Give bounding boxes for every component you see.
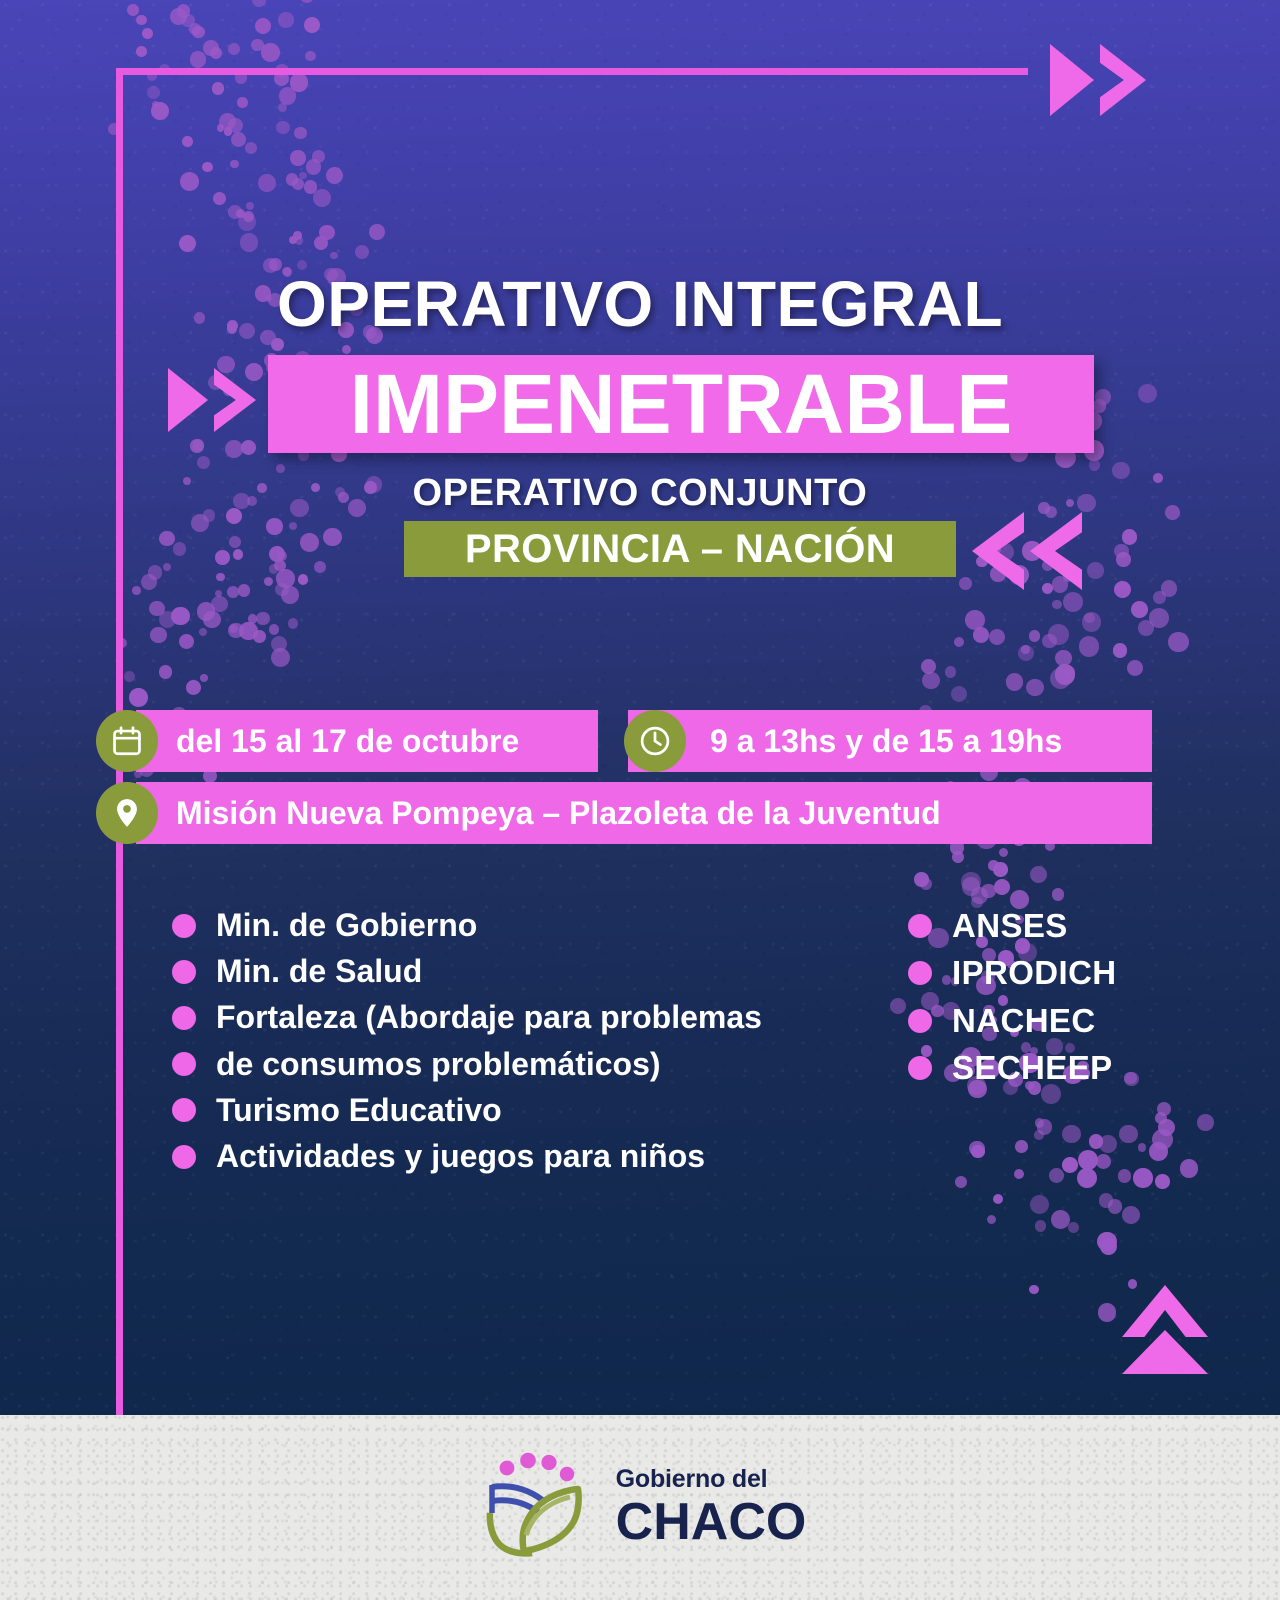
- bullet-dot-icon: [908, 961, 932, 985]
- bullet-dot-icon: [908, 914, 932, 938]
- logo-title: CHACO: [616, 1496, 807, 1548]
- bullet-dot-icon: [908, 1056, 932, 1080]
- list-item: ANSES: [908, 908, 1117, 944]
- list-item-label: IPRODICH: [952, 955, 1117, 991]
- clock-icon: [624, 710, 686, 772]
- list-item: de consumos problemáticos): [172, 1047, 762, 1082]
- triangle-right-icon: [1050, 44, 1094, 116]
- list-item-label: NACHEC: [952, 1003, 1096, 1039]
- bullet-dot-icon: [172, 1052, 196, 1076]
- headline-line2: IMPENETRABLE: [268, 355, 1094, 453]
- logo-subtitle: Gobierno del: [616, 1467, 807, 1492]
- background-texture: [0, 0, 1280, 1415]
- list-item-label: Turismo Educativo: [216, 1093, 502, 1128]
- poster-canvas: OPERATIVO INTEGRAL IMPENETRABLE OPERATIV…: [0, 0, 1280, 1600]
- bullet-dot-icon: [908, 1009, 932, 1033]
- bullet-dot-icon: [172, 914, 196, 938]
- triangle-up-icon: [1122, 1330, 1208, 1374]
- bullet-dot-icon: [172, 960, 196, 984]
- list-item: NACHEC: [908, 1003, 1117, 1039]
- list-item: Fortaleza (Abordaje para problemas: [172, 1000, 762, 1035]
- list-item-label: Min. de Salud: [216, 954, 422, 989]
- list-item-label: Actividades y juegos para niños: [216, 1139, 705, 1174]
- bullet-dot-icon: [172, 1098, 196, 1122]
- list-item: IPRODICH: [908, 955, 1117, 991]
- subhead-line1: OPERATIVO CONJUNTO: [0, 472, 1280, 515]
- date-text: del 15 al 17 de octubre: [176, 723, 519, 760]
- time-bar: 9 a 13hs y de 15 a 19hs: [628, 710, 1152, 772]
- subhead-line2: PROVINCIA – NACIÓN: [404, 521, 956, 577]
- participants-list-right: ANSESIPRODICHNACHECSECHEEP: [908, 908, 1117, 1097]
- time-text: 9 a 13hs y de 15 a 19hs: [710, 723, 1062, 760]
- list-item: Turismo Educativo: [172, 1093, 762, 1128]
- list-item: SECHEEP: [908, 1050, 1117, 1086]
- location-bar: Misión Nueva Pompeya – Plazoleta de la J…: [136, 782, 1152, 844]
- date-bar: del 15 al 17 de octubre: [136, 710, 598, 772]
- bullet-dot-icon: [172, 1006, 196, 1030]
- calendar-icon: [96, 710, 158, 772]
- location-text: Misión Nueva Pompeya – Plazoleta de la J…: [176, 795, 941, 832]
- list-item-label: de consumos problemáticos): [216, 1047, 661, 1082]
- list-item-label: SECHEEP: [952, 1050, 1113, 1086]
- footer: Gobierno del CHACO: [0, 1415, 1280, 1600]
- list-item: Actividades y juegos para niños: [172, 1139, 762, 1174]
- list-item-label: Fortaleza (Abordaje para problemas: [216, 1000, 762, 1035]
- government-logo: Gobierno del CHACO: [0, 1451, 1280, 1563]
- location-pin-icon: [96, 782, 158, 844]
- bullet-dot-icon: [172, 1145, 196, 1169]
- participants-list-left: Min. de GobiernoMin. de SaludFortaleza (…: [172, 908, 762, 1185]
- list-item-label: ANSES: [952, 908, 1068, 944]
- headline-line1: OPERATIVO INTEGRAL: [0, 272, 1280, 337]
- triangle-right-icon-headline: [168, 368, 208, 432]
- list-item: Min. de Salud: [172, 954, 762, 989]
- headline-block: OPERATIVO INTEGRAL: [0, 272, 1280, 337]
- chaco-leaf-logo-icon: [474, 1451, 594, 1563]
- list-item-label: Min. de Gobierno: [216, 908, 477, 943]
- frame-top-border: [116, 68, 1028, 75]
- list-item: Min. de Gobierno: [172, 908, 762, 943]
